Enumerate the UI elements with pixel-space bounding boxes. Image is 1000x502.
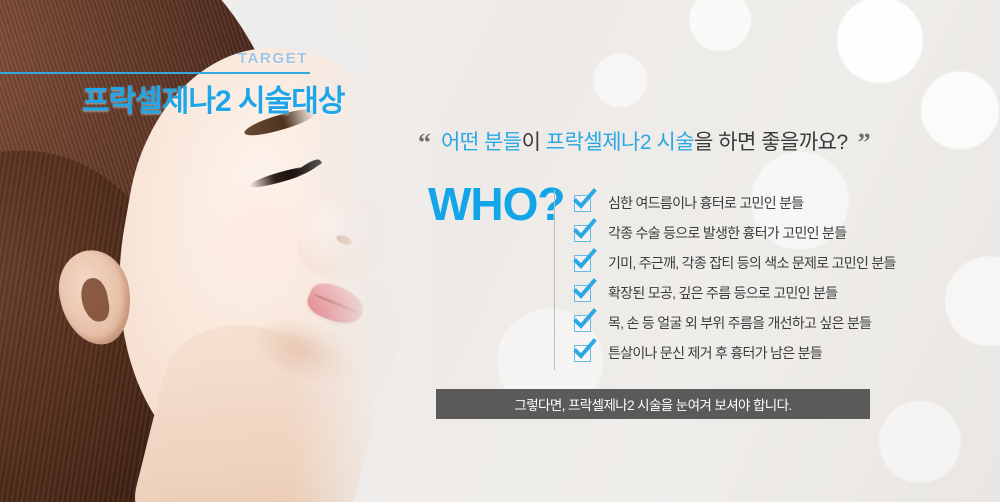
list-item: 확장된 모공, 깊은 주름 등으로 고민인 분들 [574,278,896,308]
quote-text: 어떤 분들이 프락셀제나2 시술을 하면 좋을까요? [441,130,848,155]
who-label: WHO? [428,181,565,227]
check-icon [574,315,591,332]
list-item: 심한 여드름이나 흉터로 고민인 분들 [574,188,896,218]
page-title: 프락셀제나2 시술대상 [82,76,344,120]
list-item-label: 각종 수술 등으로 발생한 흉터가 고민인 분들 [608,223,846,243]
footer-callout-text: 그렇다면, 프락셀제나2 시술을 눈여겨 보셔야 합니다. [514,394,791,414]
list-item: 기미, 주근깨, 각종 잡티 등의 색소 문제로 고민인 분들 [574,248,896,278]
list-item-label: 확장된 모공, 깊은 주름 등으로 고민인 분들 [608,283,837,303]
quote-close-icon: ” [858,130,871,156]
list-item: 목, 손 등 얼굴 외 부위 주름을 개선하고 싶은 분들 [574,308,896,338]
quote-segment-3: 프락셀제나2 시술 [546,131,694,154]
quote-open-icon: “ [418,130,431,156]
title-divider-rule [0,72,310,74]
footer-callout-bar: 그렇다면, 프락셀제나2 시술을 눈여겨 보셔야 합니다. [436,389,870,419]
list-item-label: 목, 손 등 얼굴 외 부위 주름을 개선하고 싶은 분들 [608,313,871,333]
quote-segment-1: 어떤 분들 [441,131,522,154]
vertical-divider [554,190,555,370]
list-item: 튼살이나 문신 제거 후 흉터가 남은 분들 [574,338,896,368]
list-item: 각종 수술 등으로 발생한 흉터가 고민인 분들 [574,218,896,248]
quote-segment-4: 을 하면 좋을까요? [694,131,848,154]
promo-banner: TARGET 프락셀제나2 시술대상 “ 어떤 분들이 프락셀제나2 시술을 하… [0,0,1000,502]
target-kicker: TARGET [238,50,308,67]
target-checklist: 심한 여드름이나 흉터로 고민인 분들 각종 수술 등으로 발생한 흉터가 고민… [574,188,896,368]
list-item-label: 튼살이나 문신 제거 후 흉터가 남은 분들 [608,343,822,363]
check-icon [574,225,591,242]
headline-quote: “ 어떤 분들이 프락셀제나2 시술을 하면 좋을까요? ” [418,130,871,156]
check-icon [574,255,591,272]
quote-segment-2: 이 [522,131,546,154]
check-icon [574,195,591,212]
list-item-label: 기미, 주근깨, 각종 잡티 등의 색소 문제로 고민인 분들 [608,253,896,273]
check-icon [574,345,591,362]
check-icon [574,285,591,302]
list-item-label: 심한 여드름이나 흉터로 고민인 분들 [608,193,803,213]
